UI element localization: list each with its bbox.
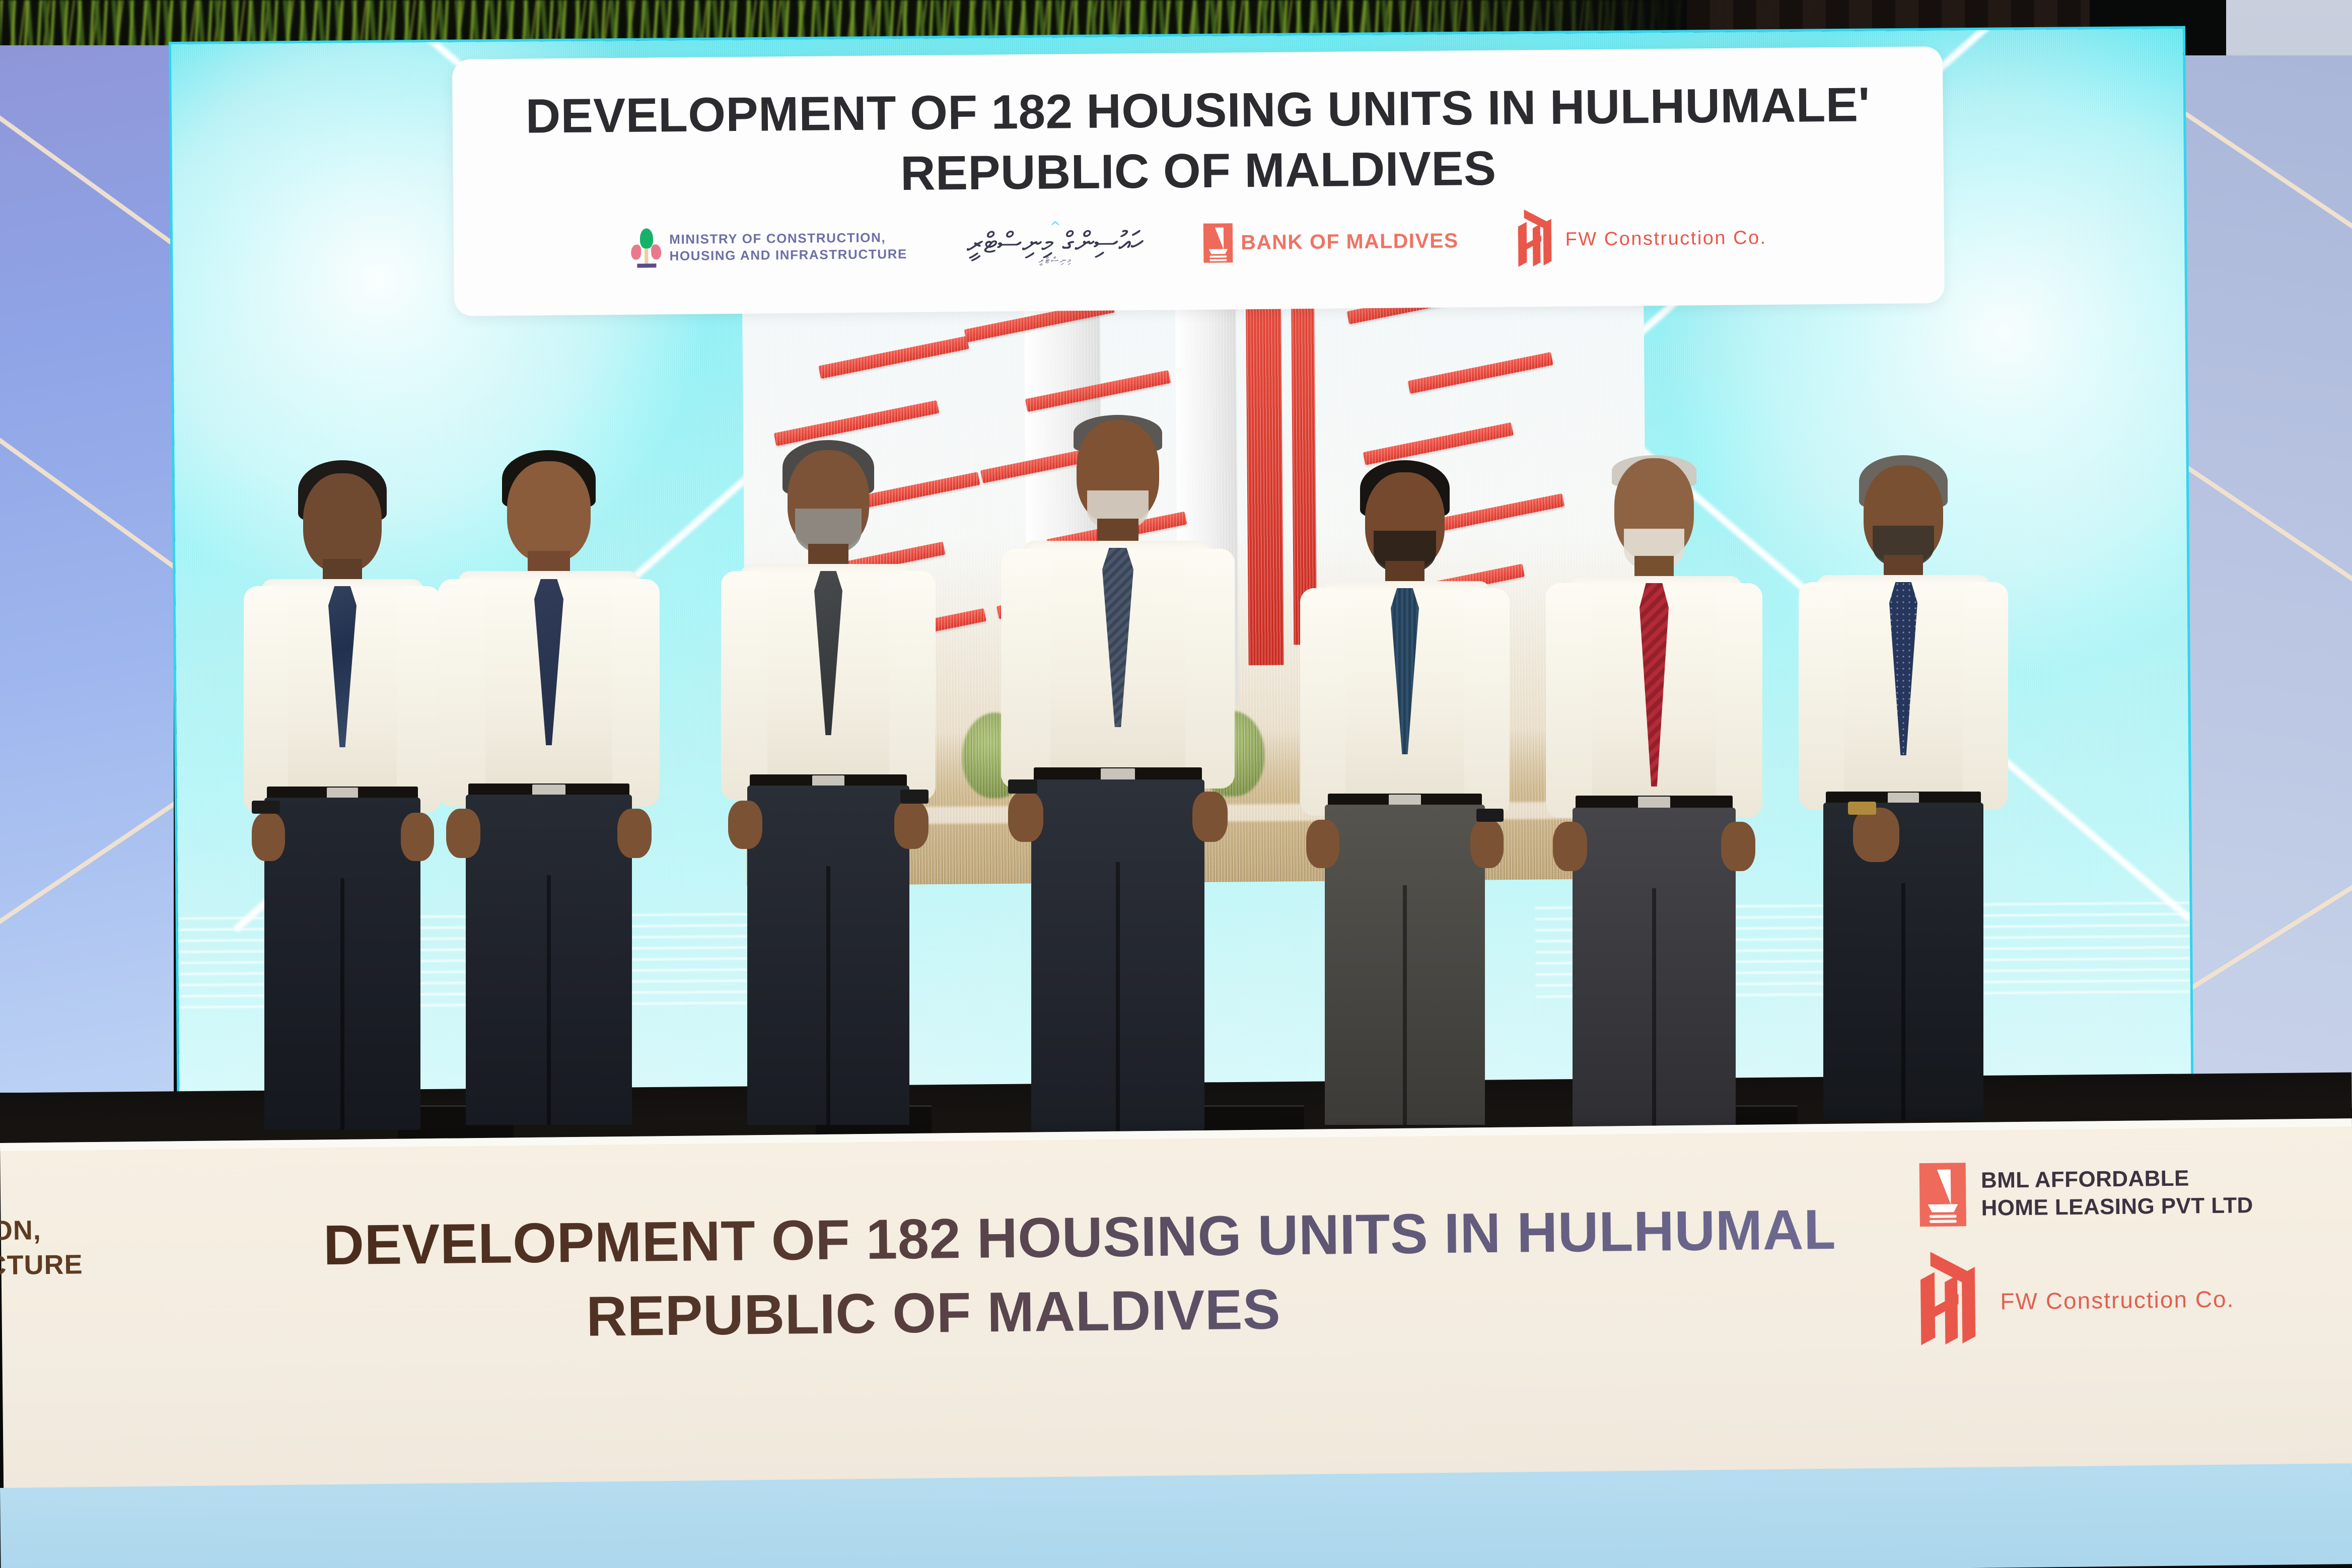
thaana-script-text: ހައުސިންގް މިނިސްޓްރީ (967, 226, 1145, 260)
banner-title: DEVELOPMENT OF 182 HOUSING UNITS IN HULH… (323, 1199, 1835, 1350)
banner-thaana-script: ހައުސިންގް (0, 1304, 224, 1349)
bml-affordable-line2: HOME LEASING PVT LTD (1981, 1191, 2253, 1222)
wing-diagonal-line (2180, 808, 2352, 999)
thaana-script-mark: ^ ހައުސިންގް މިނިސްޓްރީ މިނިސްޓްރީ (967, 224, 1145, 265)
coconut-palm-icon (631, 228, 662, 268)
led-wing-left (0, 45, 174, 1093)
led-wing-right (2180, 55, 2352, 1103)
person-7 (1793, 455, 2014, 1120)
fw-construction-logo-banner: FW Construction Co. (1920, 1258, 2334, 1341)
ministry-logo-line2: HOUSING AND INFRASTRUCTURE (669, 246, 907, 264)
screen-title-line1: DEVELOPMENT OF 182 HOUSING UNITS IN HULH… (452, 80, 1943, 142)
sailboat-icon (1919, 1163, 1966, 1227)
banner-ministry-line2: RASTRUCTURE (0, 1246, 223, 1284)
person-4 (997, 415, 1239, 1135)
wing-diagonal-line (2180, 100, 2352, 317)
screen-title-line2: REPUBLIC OF MALDIVES (453, 140, 1944, 202)
banner-title-line1: DEVELOPMENT OF 182 HOUSING UNITS IN HULH… (323, 1199, 1834, 1276)
sailboat-icon (1203, 223, 1233, 263)
fw-monogram-icon (1920, 1262, 1986, 1341)
fw-construction-logo: FW Construction Co. (1518, 214, 1767, 264)
banner-ministry-logo: STRUCTION, RASTRUCTURE ހައުސިންގް (0, 1211, 224, 1349)
screen-logo-row: MINISTRY OF CONSTRUCTION, HOUSING AND IN… (454, 212, 1945, 274)
wing-diagonal-line (0, 79, 174, 319)
banner-title-line2: REPUBLIC OF MALDIVES (324, 1273, 1835, 1350)
person-6 (1541, 455, 1767, 1130)
photo-canvas: DEVELOPMENT OF 182 HOUSING UNITS IN HULH… (0, 0, 2352, 1568)
fw-monogram-icon (1518, 216, 1557, 265)
person-1 (237, 460, 448, 1130)
ministry-logo: MINISTRY OF CONSTRUCTION, HOUSING AND IN… (631, 226, 907, 268)
dhivehi-ministry-logo: ^ ހައުސިންގް މިނިސްޓްރީ މިނިސްޓްރީ (967, 224, 1145, 265)
ministry-logo-line1: MINISTRY OF CONSTRUCTION, (669, 229, 907, 248)
screen-title-card: DEVELOPMENT OF 182 HOUSING UNITS IN HULH… (452, 46, 1945, 316)
wing-diagonal-line (0, 724, 174, 942)
fw-construction-label-banner: FW Construction Co. (2000, 1286, 2234, 1315)
person-5 (1294, 460, 1516, 1125)
wing-diagonal-line (0, 386, 174, 656)
person-3 (715, 440, 942, 1125)
stage-banner: STRUCTION, RASTRUCTURE ހައުސިންގް DEVELO… (0, 1118, 2352, 1495)
bml-affordable-line1: BML AFFORDABLE (1981, 1164, 2253, 1194)
person-2 (433, 450, 665, 1125)
bank-of-maldives-label: BANK OF MALDIVES (1241, 229, 1459, 255)
fw-construction-label: FW Construction Co. (1565, 227, 1767, 250)
bml-affordable-logo: BML AFFORDABLE HOME LEASING PVT LTD (1919, 1159, 2333, 1227)
banner-partner-logos: BML AFFORDABLE HOME LEASING PVT LTD FW C… (1919, 1159, 2334, 1378)
wing-diagonal-line (2180, 434, 2352, 669)
banner-ministry-line1: STRUCTION, (0, 1211, 223, 1249)
bank-of-maldives-logo: BANK OF MALDIVES (1203, 221, 1459, 262)
